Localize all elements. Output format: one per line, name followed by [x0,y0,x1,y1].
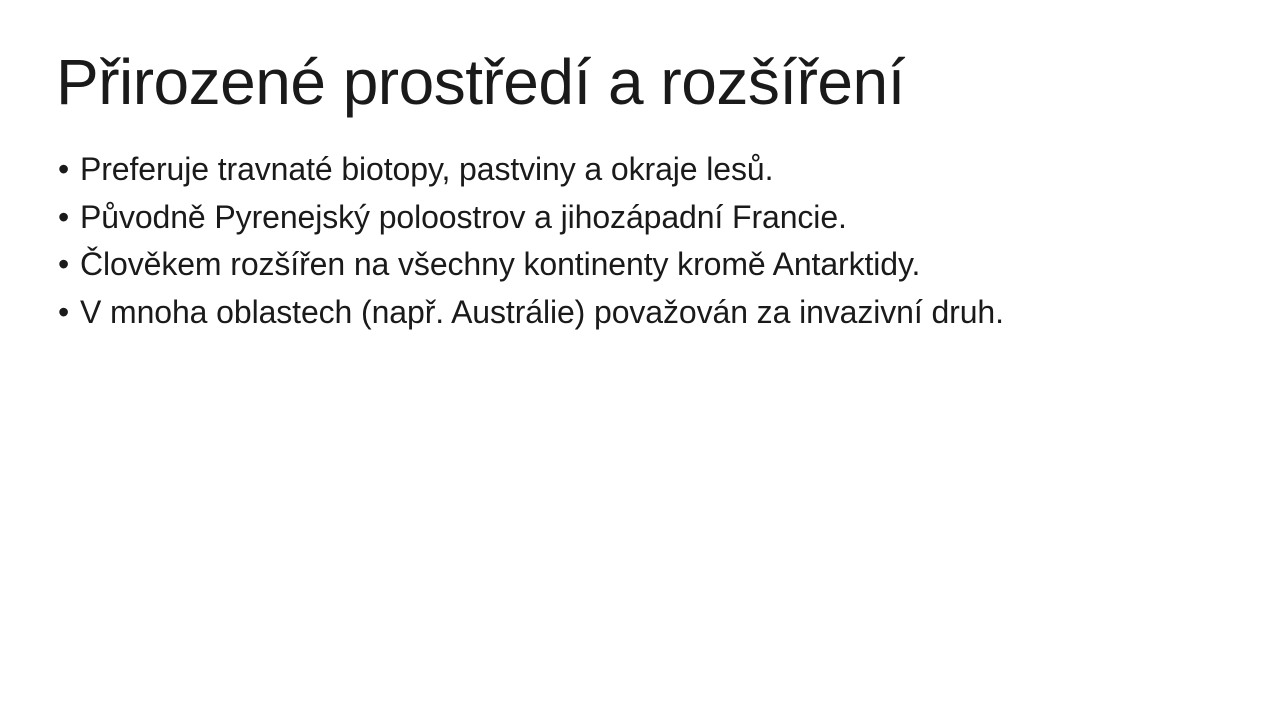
list-item: • Původně Pyrenejský poloostrov a jihozá… [56,194,1236,242]
bullet-list: • Preferuje travnaté biotopy, pastviny a… [56,146,1236,336]
presentation-slide: Přirozené prostředí a rozšíření • Prefer… [0,0,1280,720]
list-item: • Preferuje travnaté biotopy, pastviny a… [56,146,1236,194]
bullet-point-icon: • [58,146,76,194]
list-item-text: Člověkem rozšířen na všechny kontinenty … [80,246,920,282]
list-item: • V mnoha oblastech (např. Austrálie) po… [56,289,1236,337]
list-item-text: Původně Pyrenejský poloostrov a jihozápa… [80,199,847,235]
list-item-text: V mnoha oblastech (např. Austrálie) pova… [80,294,1004,330]
list-item-text: Preferuje travnaté biotopy, pastviny a o… [80,151,773,187]
bullet-point-icon: • [58,194,76,242]
slide-title: Přirozené prostředí a rozšíření [56,48,1226,117]
bullet-point-icon: • [58,241,76,289]
bullet-point-icon: • [58,289,76,337]
list-item: • Člověkem rozšířen na všechny kontinent… [56,241,1236,289]
